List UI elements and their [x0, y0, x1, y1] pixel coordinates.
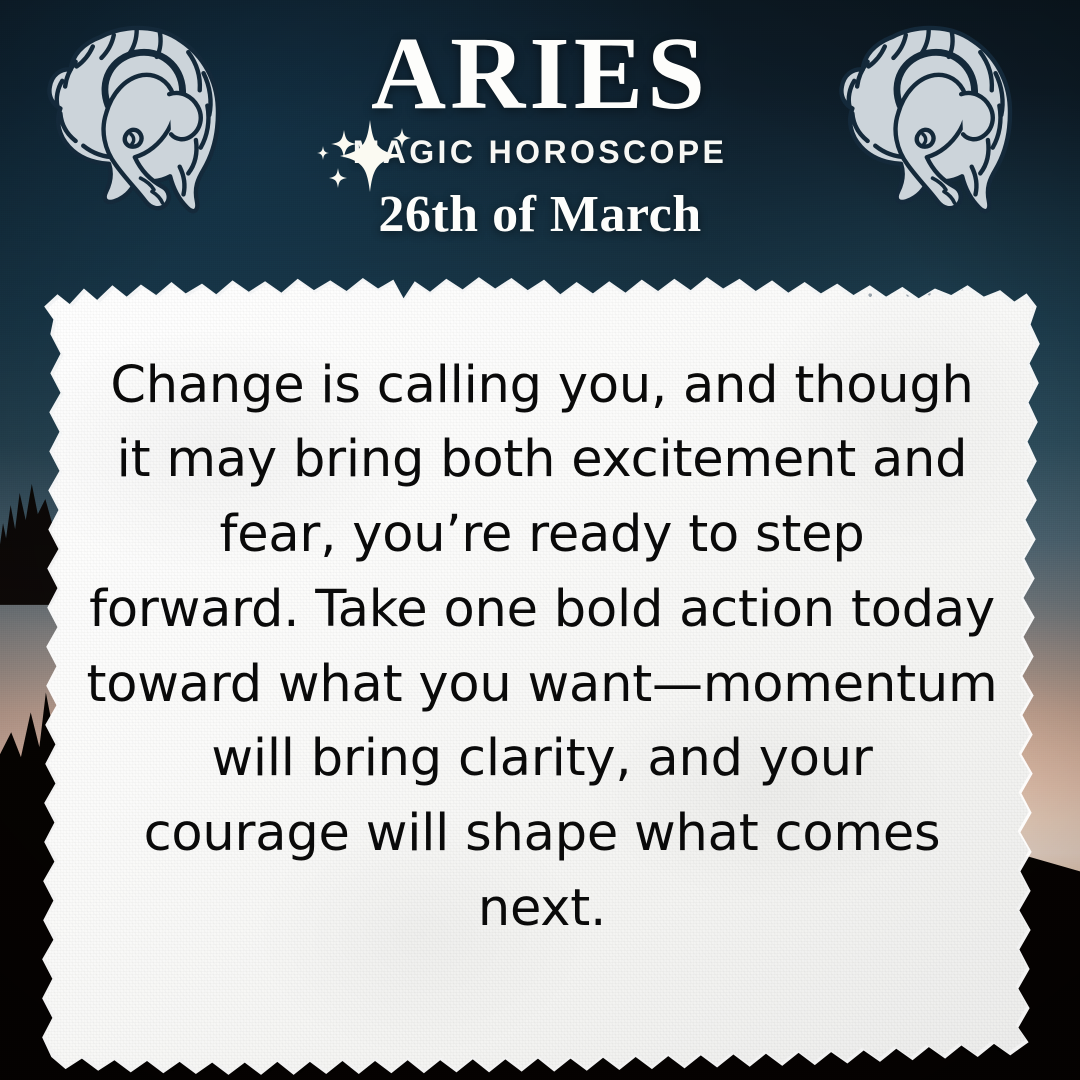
poster-header: ARIES [0, 0, 1080, 290]
title-block: ARIES [0, 0, 1080, 244]
horoscope-poster: ARIES [0, 0, 1080, 1080]
brand-row: MAGIC HOROSCOPE [0, 134, 1080, 171]
zodiac-sign-title: ARIES [371, 22, 709, 126]
horoscope-date: 26th of March [378, 185, 701, 244]
horoscope-reading-text: Change is calling you, and though it may… [76, 349, 1007, 947]
brand-subtitle: MAGIC HOROSCOPE [353, 134, 728, 171]
torn-paper-card: Change is calling you, and though it may… [36, 272, 1048, 1080]
